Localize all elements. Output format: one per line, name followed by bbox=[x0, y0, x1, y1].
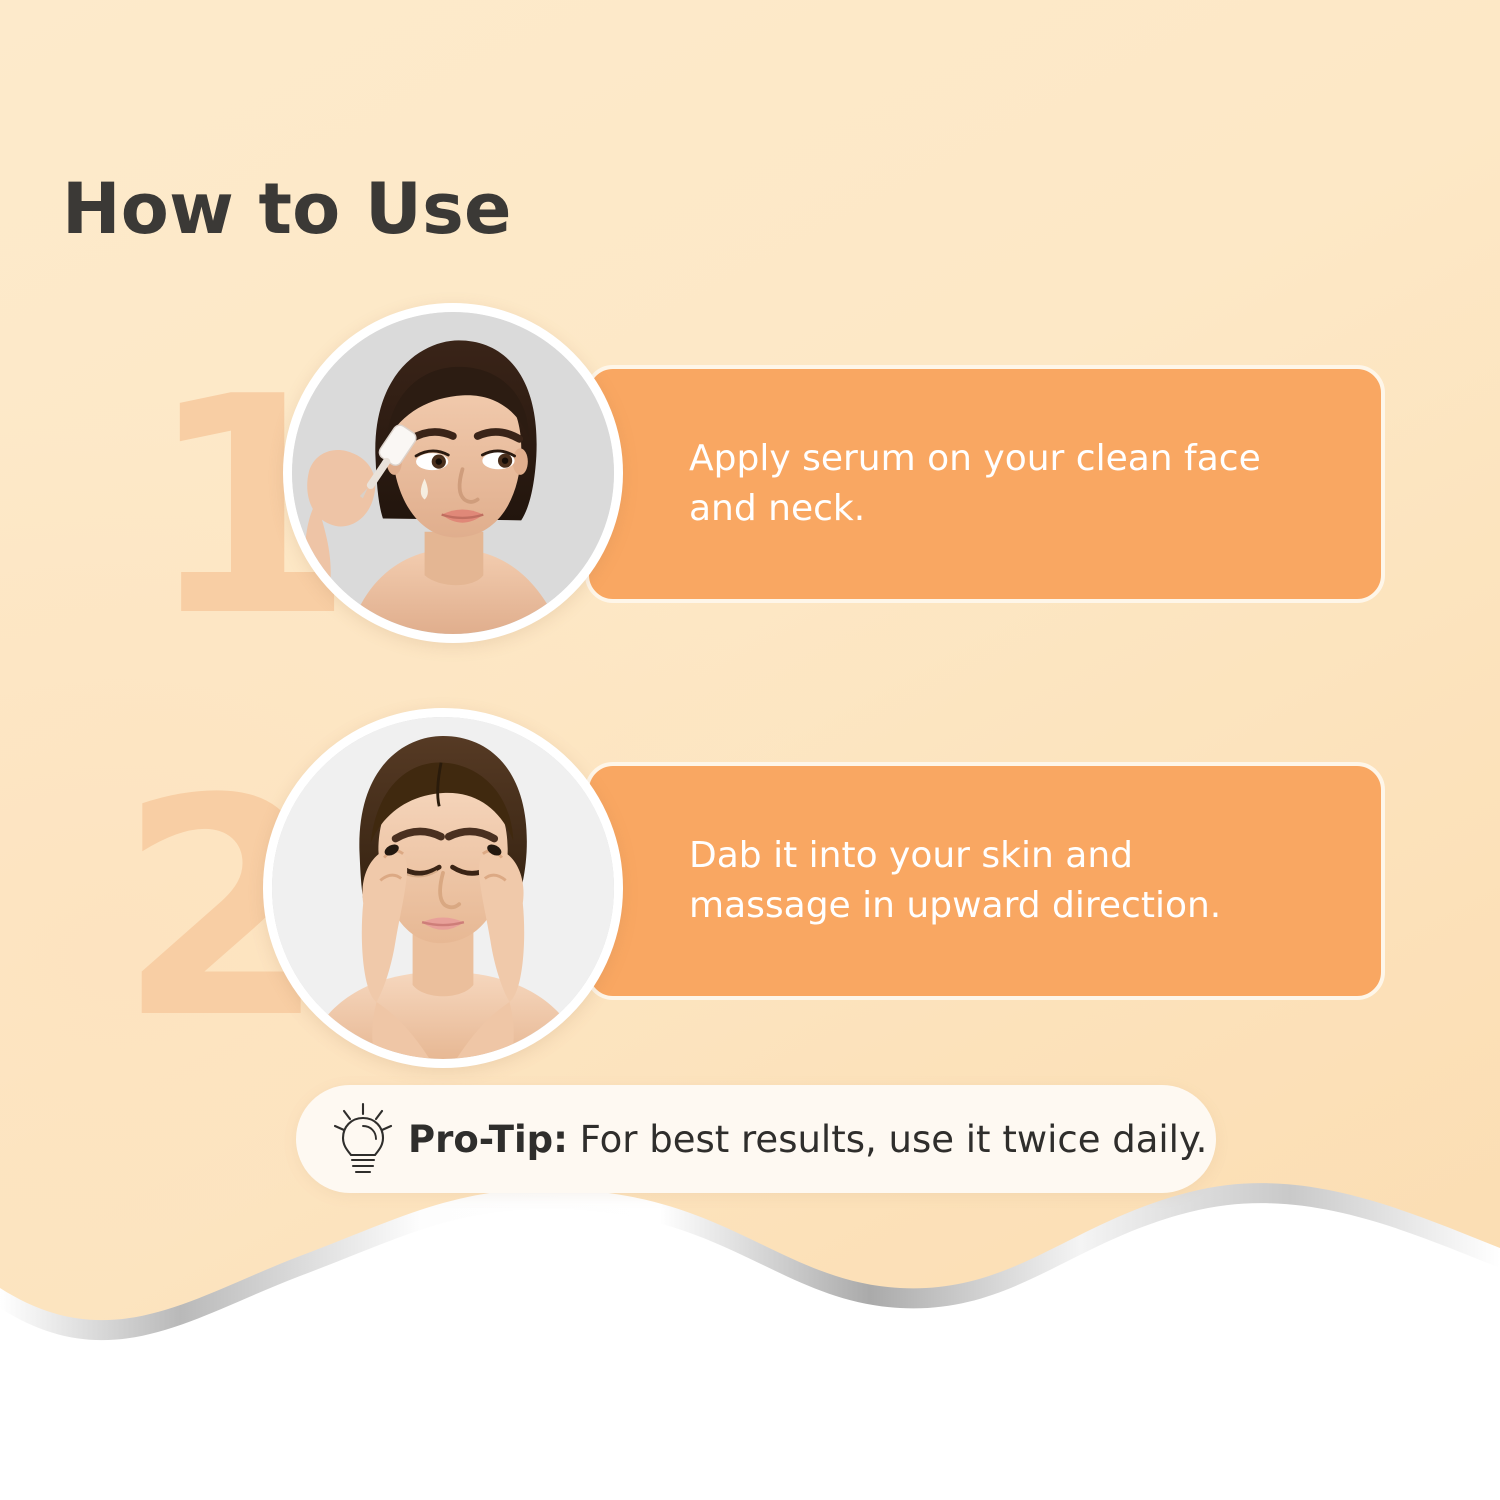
step-1-card: Apply serum on your clean face and neck. bbox=[585, 365, 1385, 603]
how-to-use-infographic: How to Use 1 2 Apply serum on your clean… bbox=[0, 0, 1500, 1500]
pro-tip-body: For best results, use it twice daily. bbox=[568, 1118, 1207, 1161]
step-1-photo bbox=[283, 303, 623, 643]
step-2-card: Dab it into your skin and massage in upw… bbox=[585, 762, 1385, 1000]
step-2-photo bbox=[263, 708, 623, 1068]
woman-applying-serum-image bbox=[292, 312, 614, 634]
pro-tip-label: Pro-Tip: bbox=[408, 1118, 568, 1161]
page-title: How to Use bbox=[62, 168, 512, 250]
woman-massaging-face-image bbox=[272, 717, 614, 1059]
pro-tip-banner: Pro-Tip: For best results, use it twice … bbox=[296, 1085, 1216, 1193]
lightbulb-icon bbox=[332, 1102, 394, 1176]
step-2-text: Dab it into your skin and massage in upw… bbox=[589, 831, 1221, 930]
pro-tip-text: Pro-Tip: For best results, use it twice … bbox=[408, 1118, 1207, 1161]
step-1-text: Apply serum on your clean face and neck. bbox=[589, 434, 1261, 533]
